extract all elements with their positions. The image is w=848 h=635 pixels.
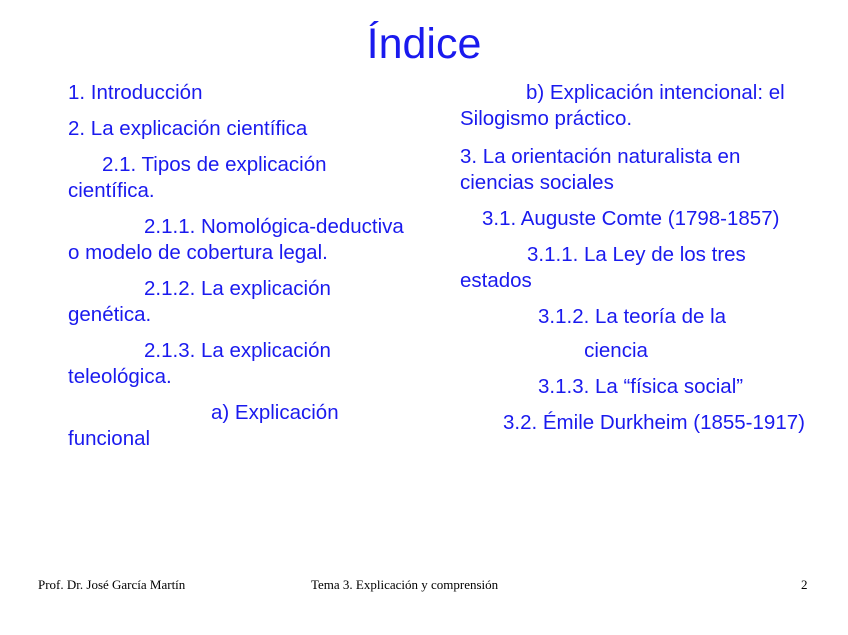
toc-item-3-1-1-ley-de-los-tres-estados[interactable]: 3.1.1. La Ley de los tres estados — [460, 242, 810, 294]
toc-item-3-1-auguste-comte[interactable]: 3.1. Auguste Comte (1798-1857) — [460, 206, 810, 232]
footer-author: Prof. Dr. José García Martín — [38, 576, 185, 594]
toc-item-3-2-emile-durkheim[interactable]: 3.2. Émile Durkheim (1855-1917) — [460, 410, 810, 436]
toc-item-2-1-tipos-de-explicacion[interactable]: 2.1. Tipos de explicación científica. — [68, 152, 408, 204]
toc-item-2-1-3-explicacion-teleologica[interactable]: 2.1.3. La explicación teleológica. — [68, 338, 408, 390]
page-title: Índice — [0, 18, 848, 70]
footer-page-number: 2 — [801, 576, 808, 594]
toc-item-2-1-2-explicacion-genetica[interactable]: 2.1.2. La explicación genética. — [68, 276, 408, 328]
toc-item-2-1-1-nomologica-deductiva[interactable]: 2.1.1. Nomológica-deductiva o modelo de … — [68, 214, 408, 266]
toc-item-3-1-3-fisica-social[interactable]: 3.1.3. La “física social” — [460, 374, 810, 400]
toc-right-column: b) Explicación intencional: el Silogismo… — [460, 80, 810, 436]
toc-left-column: 1. Introducción 2. La explicación cientí… — [68, 80, 408, 462]
toc-item-3-1-2-continuation-ciencia[interactable]: ciencia — [460, 338, 810, 364]
presentation-slide: Índice 1. Introducción 2. La explicación… — [0, 0, 848, 635]
toc-item-a-explicacion-funcional[interactable]: a) Explicación funcional — [68, 400, 408, 452]
toc-item-b-explicacion-intencional[interactable]: b) Explicación intencional: el Silogismo… — [460, 80, 810, 132]
toc-item-1-introduccion[interactable]: 1. Introducción — [68, 80, 408, 106]
toc-item-3-1-2-teoria-de-la-ciencia[interactable]: 3.1.2. La teoría de la — [460, 304, 810, 330]
toc-item-3-orientacion-naturalista[interactable]: 3. La orientación naturalista en ciencia… — [460, 144, 810, 196]
footer-topic: Tema 3. Explicación y comprensión — [311, 576, 498, 594]
slide-footer: Prof. Dr. José García Martín Tema 3. Exp… — [0, 576, 848, 600]
toc-item-2-explicacion-cientifica[interactable]: 2. La explicación científica — [68, 116, 408, 142]
